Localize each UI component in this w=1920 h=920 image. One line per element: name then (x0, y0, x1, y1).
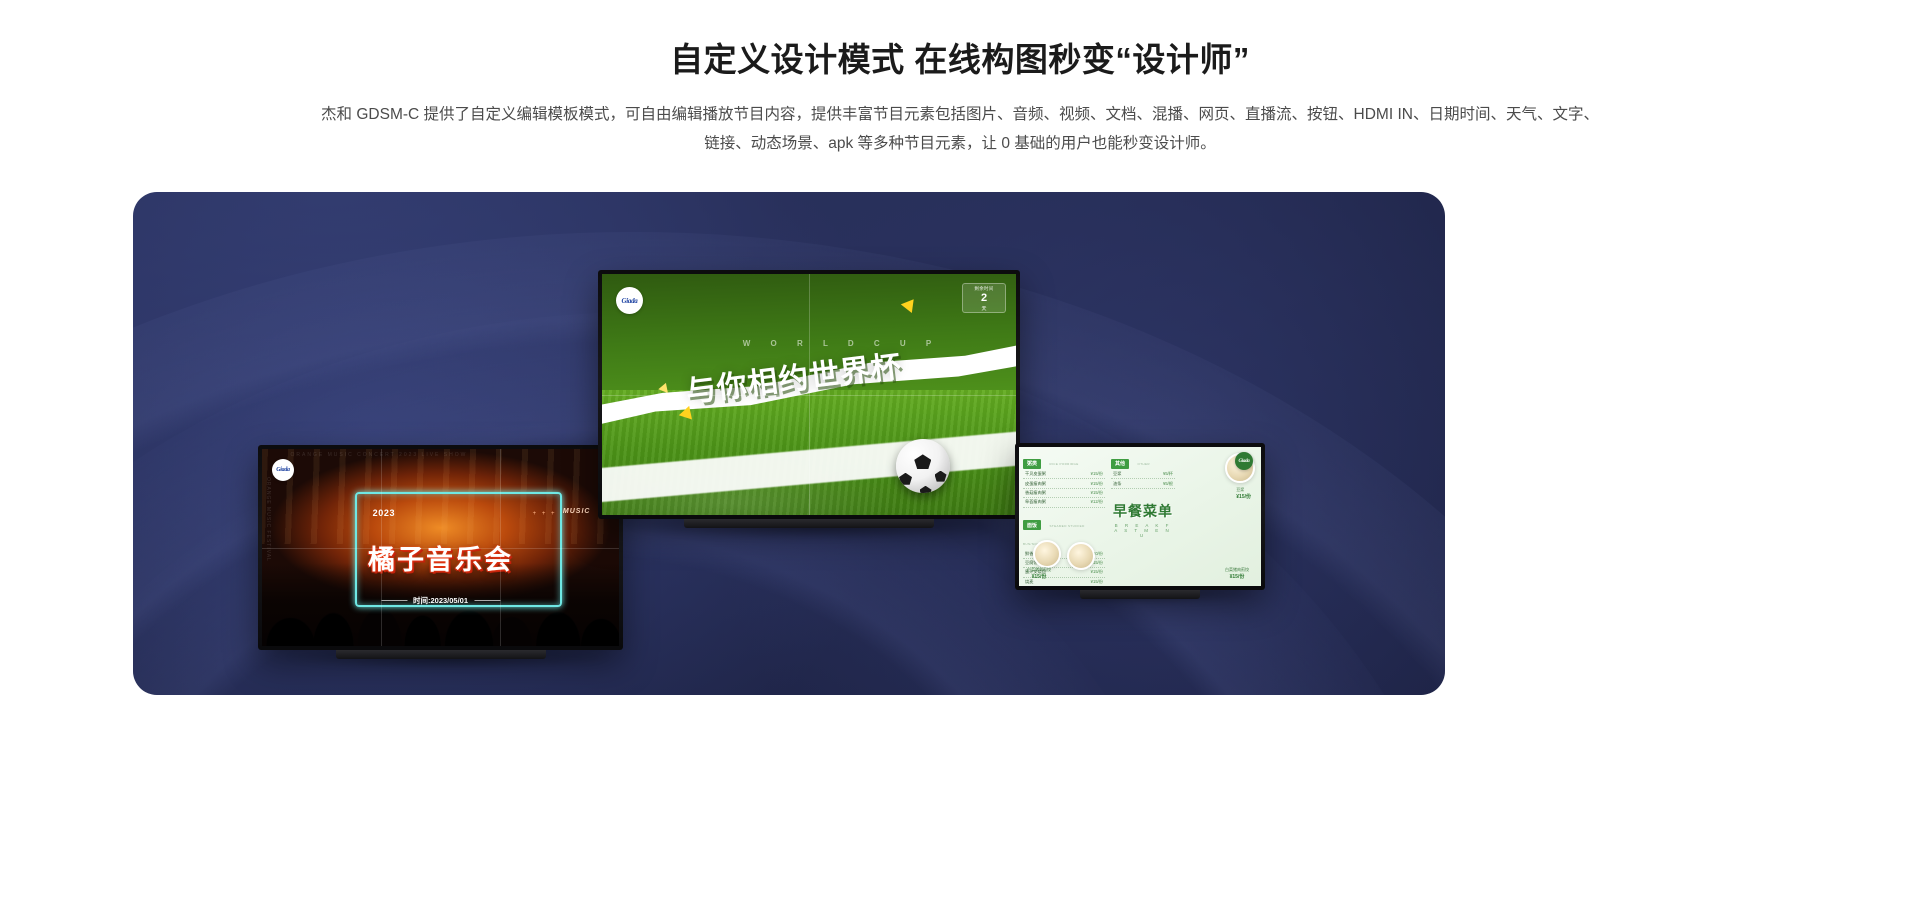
arrow-icon-top-right (900, 295, 918, 313)
music-tag: MUSIC (563, 508, 591, 515)
featured-price-2: 白菜猪肉煎饺 ¥15/份 (1027, 567, 1051, 580)
page-subtitle: 杰和 GDSM-C 提供了自定义编辑模板模式，可自由编辑播放节目内容，提供丰富节… (315, 100, 1605, 158)
dish-photo-2 (1033, 540, 1061, 568)
page-subtitle-line-1: 杰和 GDSM-C 提供了自定义编辑模板模式，可自由编辑播放节目内容，提供丰富节… (321, 106, 1393, 123)
worldcup-wall-screen: W O R L D C U P 与你相约世界杯 剩余时间 2 天 Giada (602, 274, 1016, 515)
featured-price-1: 豆浆 ¥15/份 (1236, 487, 1251, 500)
music-wall-bezel: ORANGE MUSIC CONCERT 2023 LIVE SHOW ORAN… (258, 445, 623, 650)
menu-section-porridge: 粥类 RICE PORRIDGE 干贝皮蛋粥 ¥15/份 皮蛋瘦肉粥 ¥15/份… (1023, 452, 1105, 508)
giada-logo-badge: Giada (1235, 452, 1253, 470)
music-date-rule-right (474, 600, 500, 601)
menu-item-name: 油条 (1113, 481, 1121, 487)
worldcup-wordmark: W O R L D C U P (743, 339, 941, 348)
countdown-widget: 剩余时间 2 天 (962, 283, 1006, 313)
music-year: 2023 (373, 508, 395, 518)
soccer-ball-icon (896, 439, 950, 493)
giada-logo-text: Giada (276, 467, 290, 473)
menu-item-name: 皮蛋瘦肉粥 (1025, 481, 1046, 487)
giada-logo-text: Giada (1238, 459, 1249, 464)
featured-amount-1: ¥15/份 (1236, 494, 1251, 500)
music-title: 橘子音乐会 (368, 538, 513, 577)
music-date: 时间:2023/05/01 (381, 595, 500, 606)
menu-item-row: 干贝皮蛋粥 ¥15/份 (1023, 470, 1105, 479)
menu-item-price: ¥15/份 (1091, 569, 1103, 575)
music-dots: + + + (533, 511, 557, 517)
menu-item-name: 干贝皮蛋粥 (1025, 471, 1046, 477)
giada-logo-badge: Giada (272, 459, 294, 481)
featured-amount-2: ¥15/份 (1032, 574, 1047, 580)
music-wall-screen: ORANGE MUSIC CONCERT 2023 LIVE SHOW ORAN… (262, 449, 619, 646)
music-wall-stand (336, 650, 546, 659)
menu-item-price: ¥15/份 (1091, 490, 1103, 496)
menu-item-row: 油条 ¥5/根 (1111, 479, 1175, 488)
menu-item-row: 皮蛋瘦肉粥 ¥15/份 (1023, 479, 1105, 488)
menu-item-name: 香菇瘦肉粥 (1025, 490, 1046, 496)
menu-display-stand (1080, 590, 1200, 599)
menu-item-row: 豆浆 ¥5/杯 (1111, 470, 1175, 479)
page-title: 自定义设计模式 在线构图秒变“设计师” (0, 38, 1920, 82)
featured-name-1: 豆浆 (1236, 487, 1251, 493)
menu-section-heading: 面饭 (1023, 520, 1041, 530)
menu-item-price: ¥15/份 (1091, 579, 1103, 585)
menu-item-price: ¥15/份 (1091, 471, 1103, 477)
giada-logo-badge: Giada (616, 287, 643, 314)
menu-display-screen: 粥类 RICE PORRIDGE 干贝皮蛋粥 ¥15/份 皮蛋瘦肉粥 ¥15/份… (1019, 447, 1261, 586)
worldcup-wall-bezel: W O R L D C U P 与你相约世界杯 剩余时间 2 天 Giada (598, 270, 1020, 519)
display-breakfast-menu[interactable]: 粥类 RICE PORRIDGE 干贝皮蛋粥 ¥15/份 皮蛋瘦肉粥 ¥15/份… (1015, 443, 1265, 590)
menu-item-row: 阜荟瘦肉粥 ¥12/份 (1023, 498, 1105, 507)
menu-item-name: 阜荟瘦肉粥 (1025, 499, 1046, 505)
countdown-value: 2 (963, 292, 1005, 305)
menu-section-subheading: RICE PORRIDGE (1049, 462, 1078, 466)
menu-title-cn: 早餐菜单 (1111, 501, 1175, 521)
worldcup-wall-stand (684, 519, 934, 528)
soccer-ball-patch-3 (935, 471, 947, 482)
page-header: 自定义设计模式 在线构图秒变“设计师” 杰和 GDSM-C 提供了自定义编辑模板… (0, 0, 1920, 158)
music-side-text: ORANGE MUSIC FESTIVAL (265, 477, 271, 562)
music-date-label: 时间:2023/05/01 (413, 595, 468, 606)
giada-logo-text: Giada (621, 297, 637, 305)
featured-name-3: 白菜猪肉煎饺 (1225, 567, 1249, 573)
featured-price-3: 白菜猪肉煎饺 ¥15/份 (1225, 567, 1249, 580)
menu-section-heading: 粥类 (1023, 459, 1041, 469)
featured-amount-3: ¥15/份 (1230, 574, 1245, 580)
menu-section-subheading: OTHER (1137, 462, 1150, 466)
menu-item-price: ¥12/份 (1091, 499, 1103, 505)
menu-item-row: 香菇瘦肉粥 ¥15/份 (1023, 489, 1105, 498)
dish-photo-3 (1067, 542, 1095, 570)
menu-item-price: ¥5/杯 (1163, 471, 1173, 477)
menu-column-middle: 其他 OTHER 豆浆 ¥5/杯 油条 ¥5/根 早餐菜单 B R E A K … (1111, 452, 1175, 582)
music-top-text: ORANGE MUSIC CONCERT 2023 LIVE SHOW (291, 452, 468, 458)
menu-section-heading: 其他 (1111, 459, 1129, 469)
countdown-unit: 天 (963, 305, 1005, 312)
showcase-panel: ORANGE MUSIC CONCERT 2023 LIVE SHOW ORAN… (133, 192, 1445, 695)
display-music-concert[interactable]: ORANGE MUSIC CONCERT 2023 LIVE SHOW ORAN… (258, 445, 623, 650)
menu-title-en: B R E A K F A S T M E N U (1111, 523, 1175, 538)
music-date-rule-left (381, 600, 407, 601)
menu-item-price: ¥5/根 (1163, 481, 1173, 487)
display-world-cup[interactable]: W O R L D C U P 与你相约世界杯 剩余时间 2 天 Giada (598, 270, 1020, 519)
menu-display-bezel: 粥类 RICE PORRIDGE 干贝皮蛋粥 ¥15/份 皮蛋瘦肉粥 ¥15/份… (1015, 443, 1265, 590)
menu-item-name: 豆浆 (1113, 471, 1121, 477)
featured-name-2: 白菜猪肉煎饺 (1027, 567, 1051, 573)
menu-item-price: ¥15/份 (1091, 481, 1103, 487)
soccer-ball-patch-4 (920, 486, 932, 494)
